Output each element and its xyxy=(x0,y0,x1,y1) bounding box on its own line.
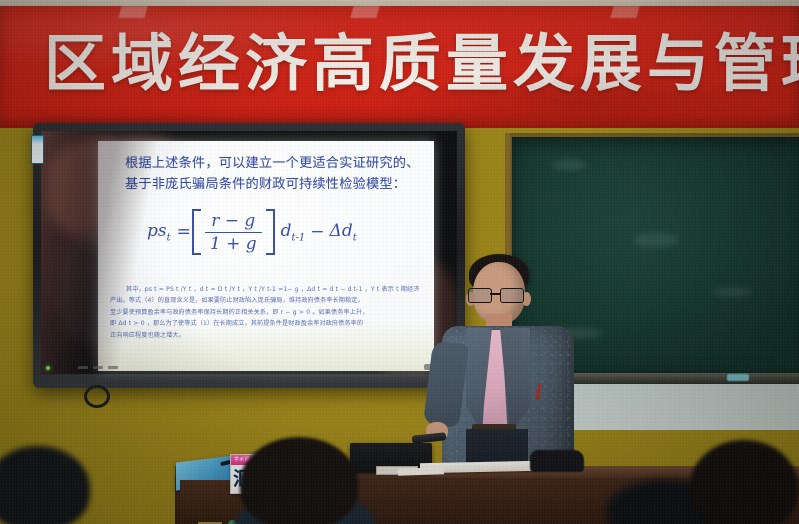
fraction-numerator: r − g xyxy=(206,211,260,232)
formula-delta-term: Δdt xyxy=(330,221,357,243)
slide-content: 根据上述条件，可以建立一个更适合实证研究的、基于非庞氏骗局条件的财政可持续性检验… xyxy=(125,153,422,255)
formula-equals: = xyxy=(177,222,191,242)
formula-minus: − xyxy=(310,222,324,242)
power-led-icon xyxy=(46,366,50,370)
formula-lhs: pst xyxy=(147,221,171,243)
classroom-presentation-photo: 区域经济高质量发展与管理创 根据上述条件，可以建立一个更适合实证研究的、基于非庞… xyxy=(0,0,799,524)
banner-tape xyxy=(118,6,147,18)
panel-sticker xyxy=(31,135,44,164)
conference-banner: 区域经济高质量发展与管理创 xyxy=(0,6,799,128)
fineprint-line: 产出。等式（4）的直观含义是，如果要防止财政陷入庞氏骗局，维持政府债务率长期稳定… xyxy=(110,295,426,306)
chalk-piece xyxy=(727,374,749,381)
panel-control-marks[interactable] xyxy=(78,366,88,369)
chalk-smudge xyxy=(552,159,586,171)
banner-tape xyxy=(610,6,639,18)
bracket-right xyxy=(266,209,275,255)
bracket-left xyxy=(192,209,201,255)
glasses-lens xyxy=(468,288,492,303)
audience-head xyxy=(0,446,90,524)
banner-title: 区域经济高质量发展与管理创 xyxy=(44,28,799,100)
fineprint-line: 即 Δd t > 0 ，那么为了使等式（1）在长期成立，其前提条件是财政盈余率对… xyxy=(110,318,426,329)
panel-control-marks[interactable] xyxy=(93,366,103,369)
fineprint-line: 其中，ps t = PS t /Y t ，d t = D t /Y t ，Y t… xyxy=(110,284,426,295)
fraction-denominator: 1 + g xyxy=(205,232,262,254)
formula-fraction: r − g 1 + g xyxy=(205,211,262,254)
audience-head xyxy=(690,440,798,524)
slide-fineprint: 其中，ps t = PS t /Y t ，d t = D t /Y t ，Y t… xyxy=(110,284,426,341)
glasses-icon xyxy=(468,288,526,301)
glasses-bridge xyxy=(490,293,500,295)
fineprint-line: 至少要使预算盈余率与政府债务率保持长期的正相关关系，即 r − g > 0 。如… xyxy=(110,307,426,318)
slide-paragraph: 根据上述条件，可以建立一个更适合实证研究的、基于非庞氏骗局条件的财政可持续性检验… xyxy=(125,153,422,195)
slide-formula: pst = r − g 1 + g dt-1 − Δdt xyxy=(147,209,422,255)
fineprint-line: 正向响应程度也随之增大。 xyxy=(110,330,426,341)
glasses-lens xyxy=(500,288,524,303)
banner-tape xyxy=(350,6,379,18)
chalk-smudge xyxy=(712,287,752,297)
audience-head xyxy=(240,437,358,524)
formula-factor: dt-1 xyxy=(281,221,306,243)
panel-control-marks[interactable] xyxy=(108,366,118,369)
projected-slide: 根据上述条件，可以建立一个更适合实证研究的、基于非庞氏骗局条件的财政可持续性检验… xyxy=(98,141,434,371)
panel-mount-bracket xyxy=(84,385,110,408)
microphone-base xyxy=(530,450,584,472)
chalk-smudge xyxy=(632,233,680,247)
